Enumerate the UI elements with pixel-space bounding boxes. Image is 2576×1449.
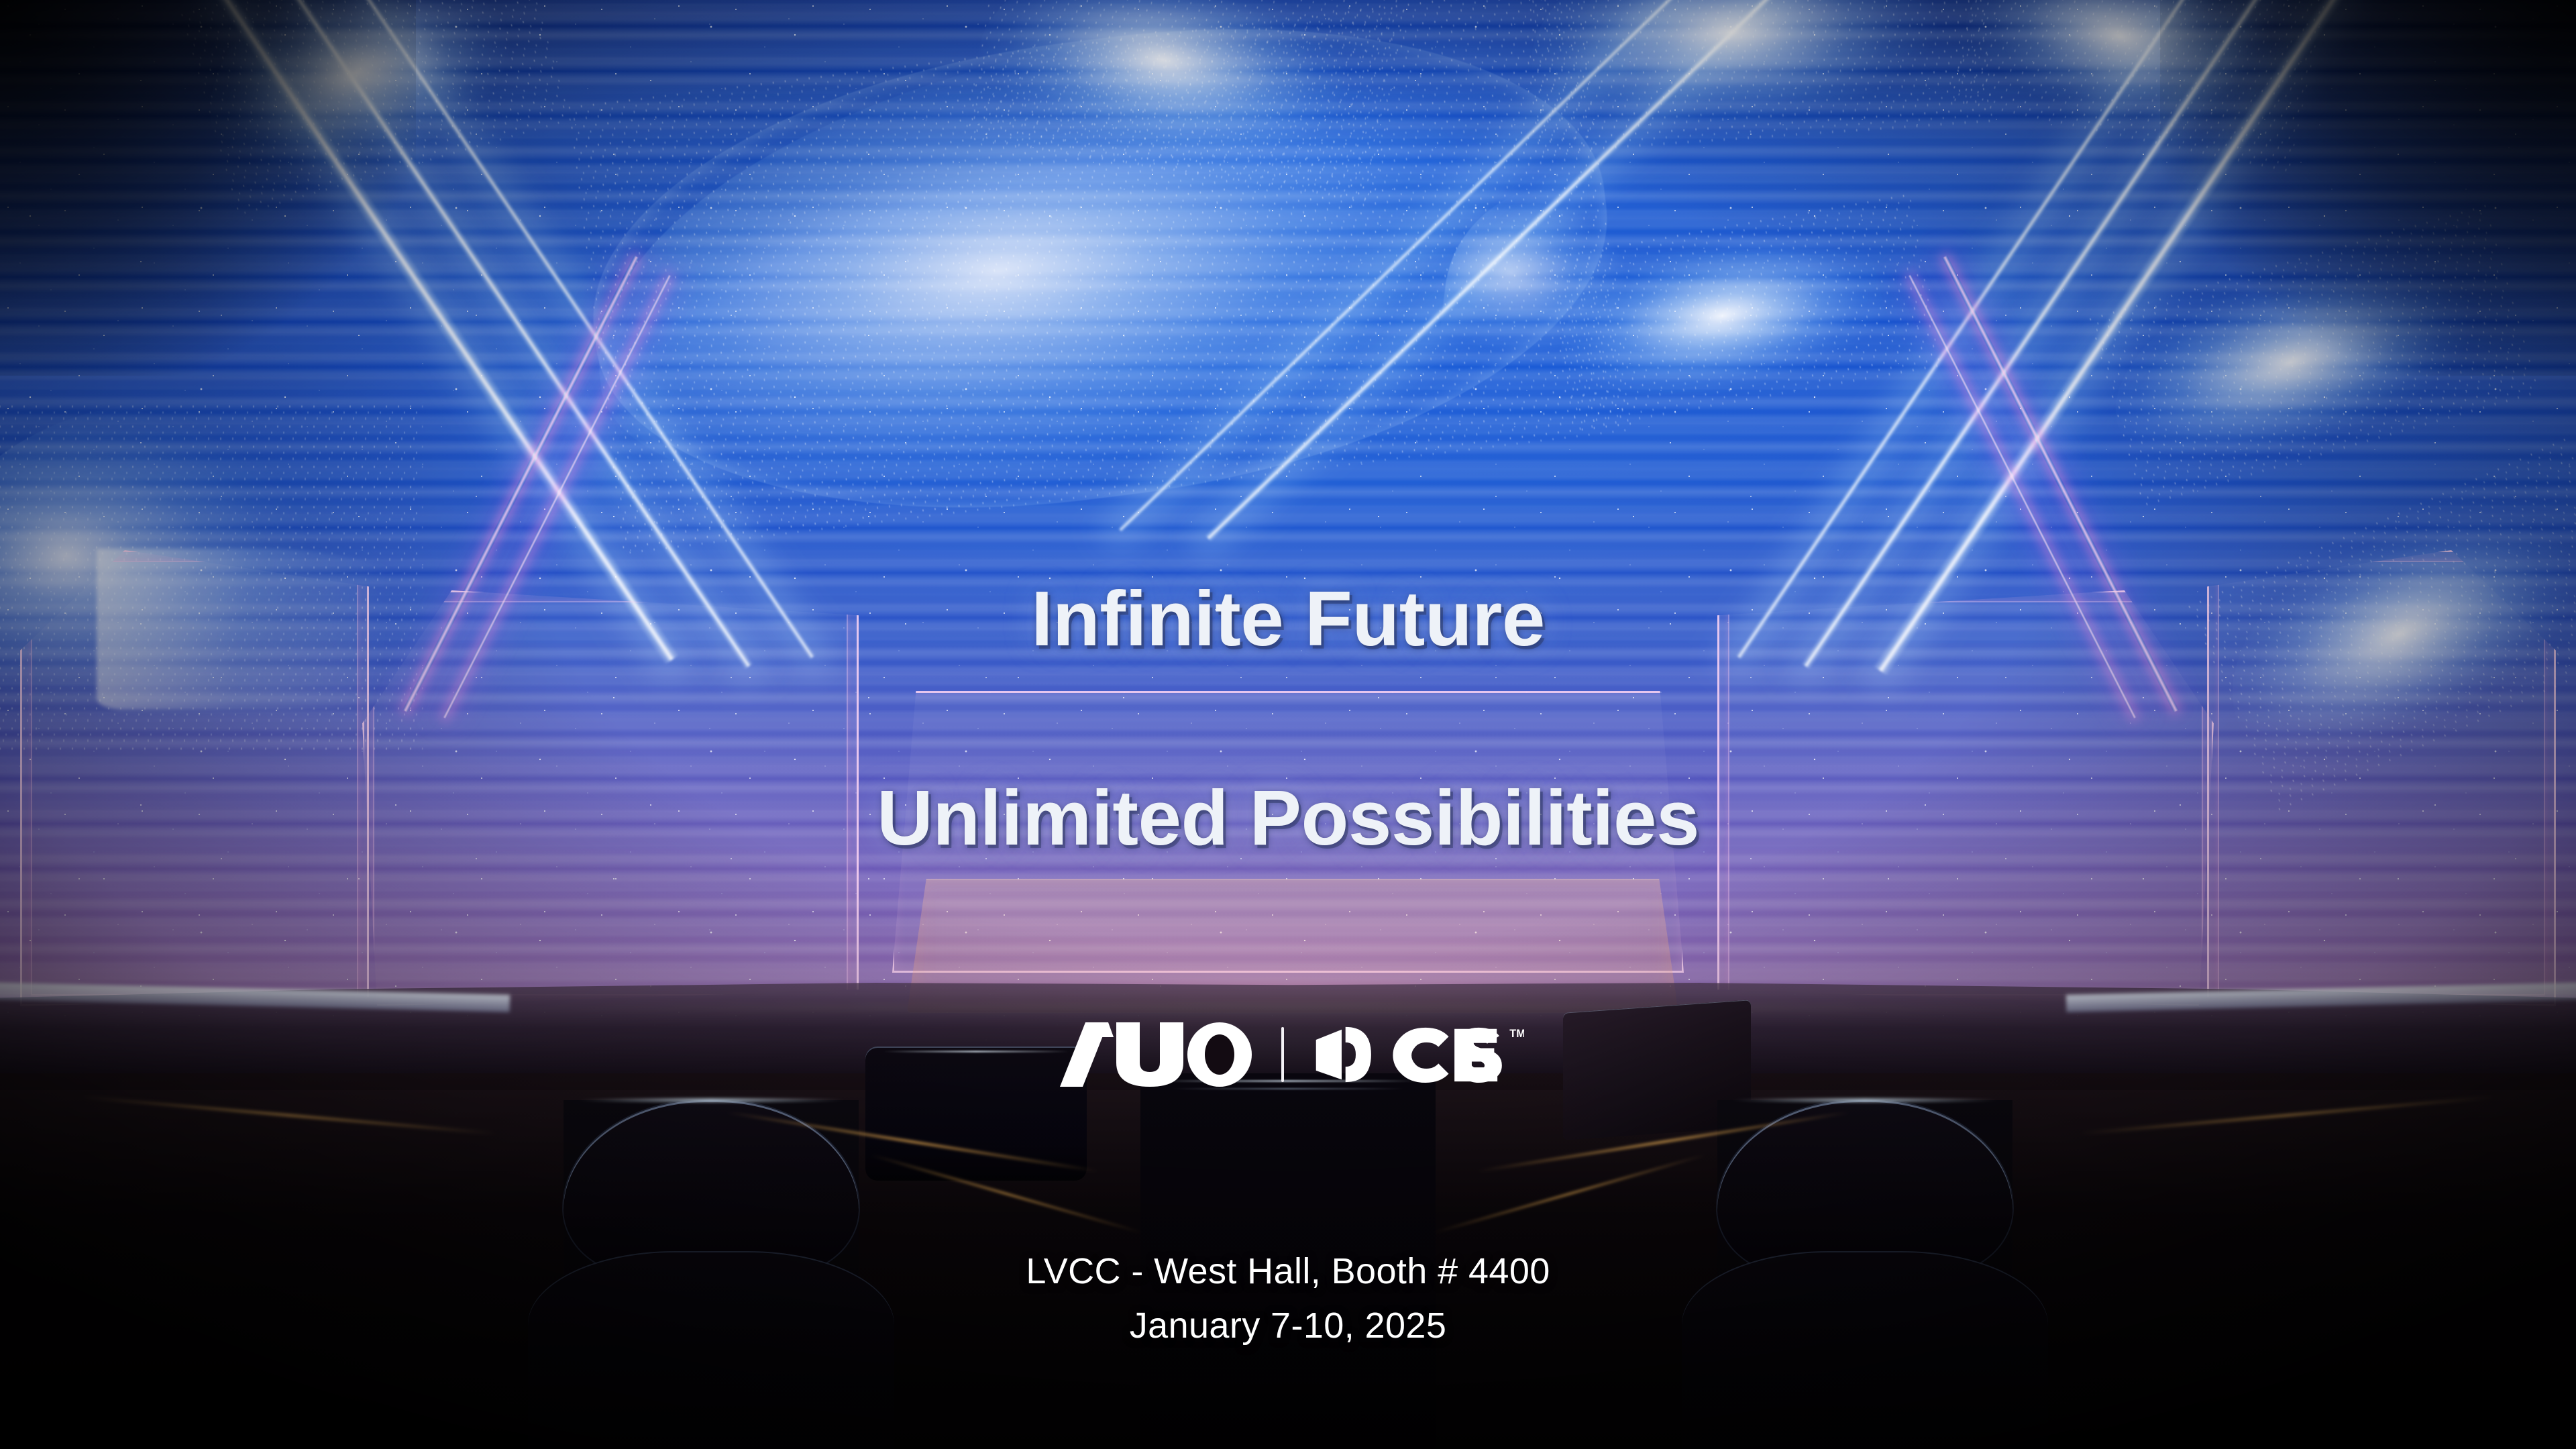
corner-shadow-top-left [0, 0, 416, 376]
dates-line: January 7-10, 2025 [0, 1299, 2576, 1353]
logo-divider [1281, 1027, 1284, 1082]
venue-line: LVCC - West Hall, Booth # 4400 [0, 1244, 2576, 1299]
key-visual-stage: Infinite Future Unlimited Possibilities [0, 0, 2576, 1449]
corner-shadow-top-right [2160, 0, 2576, 376]
svg-text:TM: TM [1510, 1028, 1524, 1040]
headline: Infinite Future Unlimited Possibilities [0, 470, 2576, 967]
ces-logo: TM [1312, 1026, 1523, 1083]
event-details: LVCC - West Hall, Booth # 4400 January 7… [0, 1244, 2576, 1353]
auo-logo [1052, 1022, 1253, 1087]
headline-line-1: Infinite Future [0, 569, 2576, 668]
headline-line-2: Unlimited Possibilities [0, 768, 2576, 867]
ces-logo-mark: TM [1312, 1026, 1523, 1083]
logo-lockup: TM [0, 1022, 2576, 1087]
